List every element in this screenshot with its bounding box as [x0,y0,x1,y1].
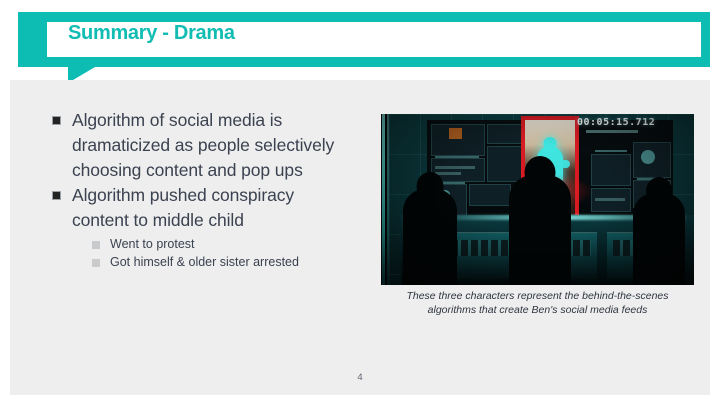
monitor-panel [469,184,511,206]
bullet-text: Algorithm of social media is dramaticize… [72,108,352,183]
operator-silhouette [633,193,685,285]
sub-bullet-text: Went to protest [110,235,195,253]
sub-bullet-square-icon [92,241,100,249]
monitor-indicator-dot [641,150,655,164]
timer-subline [586,130,638,133]
list-item: Algorithm of social media is dramaticize… [52,108,352,183]
bullet-list: Algorithm of social media is dramaticize… [52,108,352,271]
sub-bullet-list: Went to protest Got himself & older sist… [92,235,352,271]
monitor-readout-bar [435,172,461,175]
list-item: Got himself & older sister arrested [92,253,352,271]
monitor-readout-bar [435,166,475,169]
slide: Summary - Drama Algorithm of social medi… [0,0,720,405]
left-light-stripe [382,114,385,285]
control-room-photo: 00:05:15.712 [381,114,694,285]
operator-silhouette [403,189,457,285]
bullet-square-icon [52,116,61,125]
list-item: Algorithm pushed conspiracy content to m… [52,183,352,233]
page-title: Summary - Drama [68,23,235,43]
monitor-panel [487,124,523,144]
figure-caption: These three characters represent the beh… [381,289,694,317]
monitor-readout-line [595,150,627,152]
operator-silhouette [509,175,571,285]
bullet-square-icon [52,191,61,200]
slide-number: 4 [0,372,720,383]
timer-display: 00:05:15.712 [577,117,655,128]
left-light-stripe-secondary [387,114,389,285]
monitor-panel [591,154,631,186]
sub-bullet-text: Got himself & older sister arrested [110,253,299,271]
monitor-readout-line [435,156,479,158]
bullet-text: Algorithm pushed conspiracy content to m… [72,183,352,233]
list-item: Went to protest [92,235,352,253]
sub-bullet-square-icon [92,259,100,267]
figure-image: 00:05:15.712 [381,114,694,285]
monitor-portrait-thumbnail [449,128,462,139]
monitor-readout-bar [595,198,625,201]
